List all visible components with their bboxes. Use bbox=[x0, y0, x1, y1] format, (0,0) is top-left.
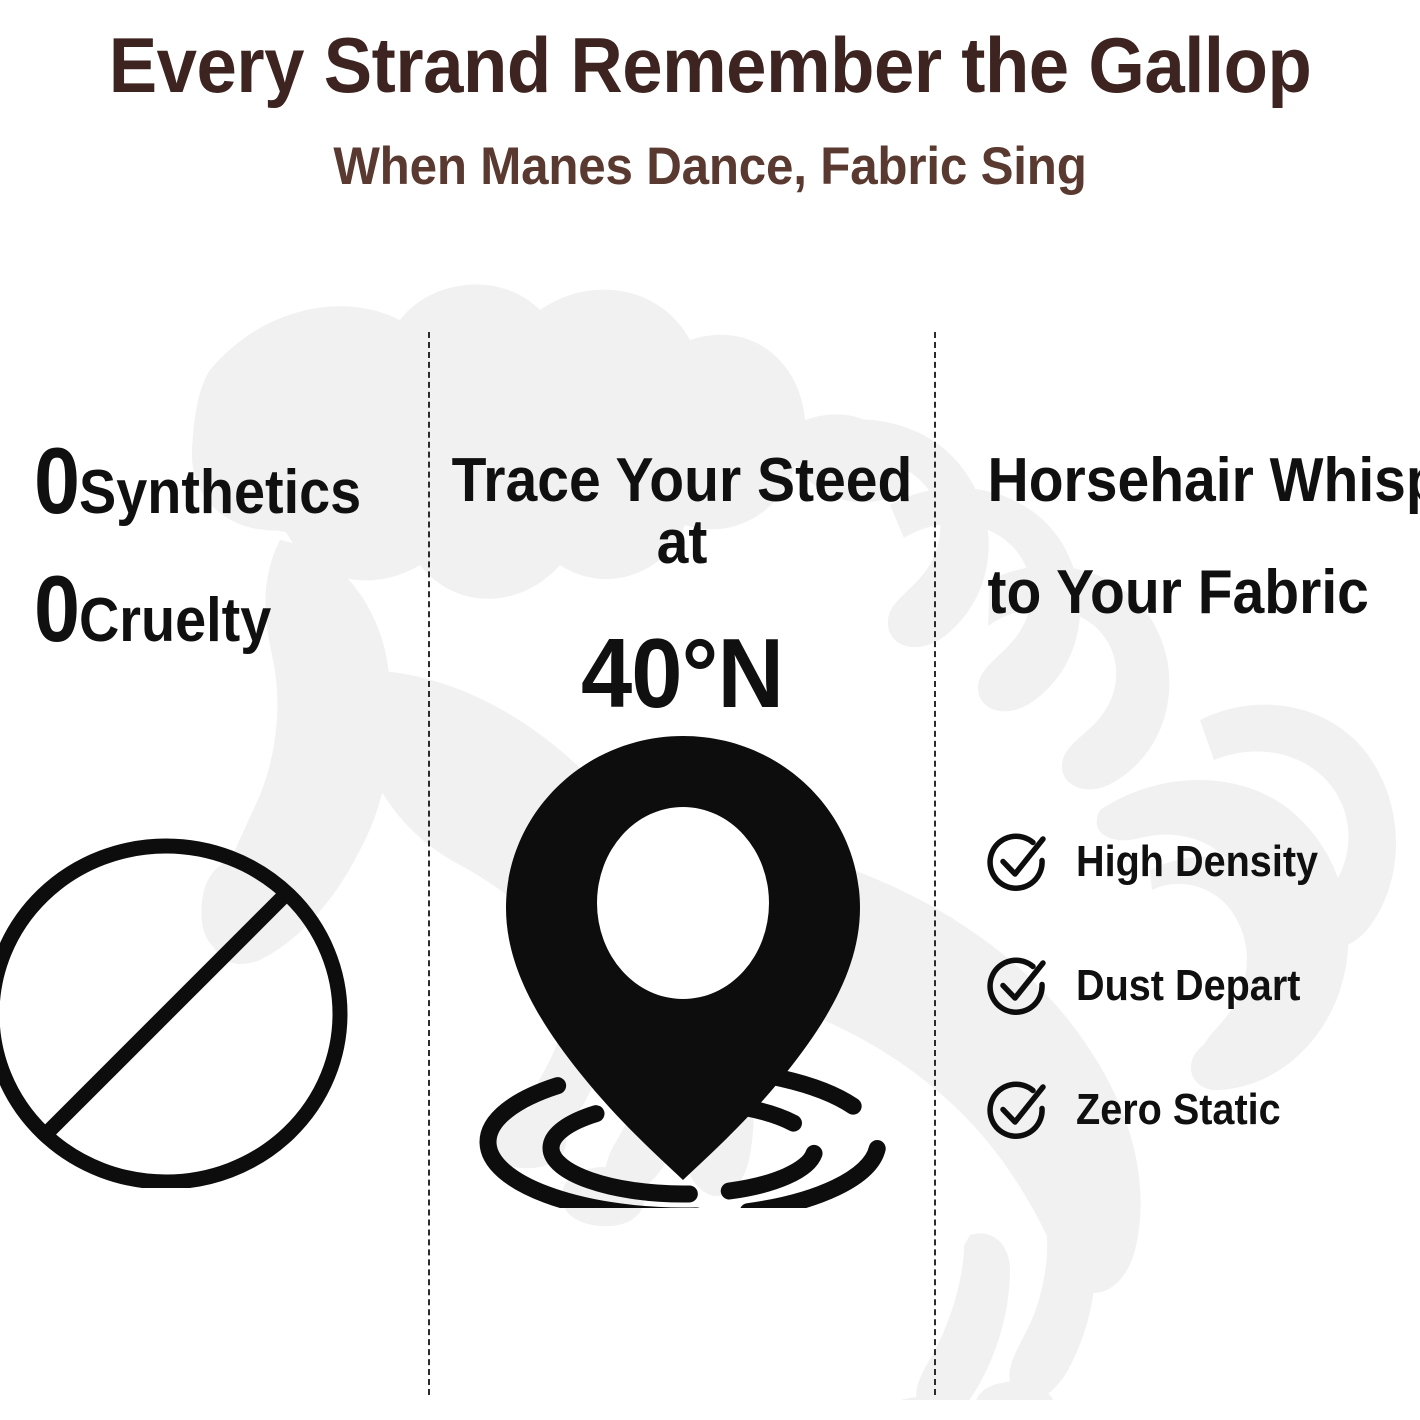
stat-value-cruelty: 0 bbox=[34, 566, 79, 652]
column-location: Trace Your Steed at 40°N bbox=[430, 330, 934, 1420]
feature-label-high-density: High Density bbox=[1076, 840, 1318, 884]
column-zero-claims: 0 Synthetics 0 Cruelty bbox=[0, 330, 428, 1420]
list-item: High Density bbox=[986, 830, 1406, 894]
stat-row-cruelty: 0 Cruelty bbox=[0, 566, 428, 652]
list-item: Dust Depart bbox=[986, 954, 1406, 1018]
features-heading-line2: to Your Fabric bbox=[936, 562, 1381, 624]
check-circle-icon bbox=[986, 830, 1050, 894]
stat-value-synthetics: 0 bbox=[34, 438, 79, 524]
stat-row-synthetics: 0 Synthetics bbox=[0, 438, 428, 524]
column-features: Horsehair Whispers to Your Fabric High D… bbox=[936, 330, 1420, 1420]
prohibition-no-symbol-icon bbox=[0, 838, 352, 1188]
check-circle-icon bbox=[986, 1078, 1050, 1142]
features-heading-line1: Horsehair Whispers bbox=[936, 450, 1381, 512]
header: Every Strand Remember the Gallop When Ma… bbox=[0, 0, 1420, 193]
location-heading: Trace Your Steed at bbox=[450, 450, 914, 574]
check-circle-icon bbox=[986, 954, 1050, 1018]
feature-label-zero-static: Zero Static bbox=[1076, 1088, 1281, 1132]
stat-label-synthetics: Synthetics bbox=[79, 464, 361, 523]
location-coordinate: 40°N bbox=[445, 624, 919, 722]
list-item: Zero Static bbox=[986, 1078, 1406, 1142]
feature-label-dust-depart: Dust Depart bbox=[1076, 964, 1300, 1008]
page-subtitle: When Manes Dance, Fabric Sing bbox=[50, 140, 1371, 193]
infographic-root: Every Strand Remember the Gallop When Ma… bbox=[0, 0, 1420, 1420]
location-pin-icon bbox=[448, 718, 918, 1208]
feature-list: High Density Dust Depart bbox=[986, 830, 1406, 1202]
stat-label-cruelty: Cruelty bbox=[79, 592, 271, 651]
page-title: Every Strand Remember the Gallop bbox=[50, 26, 1371, 104]
